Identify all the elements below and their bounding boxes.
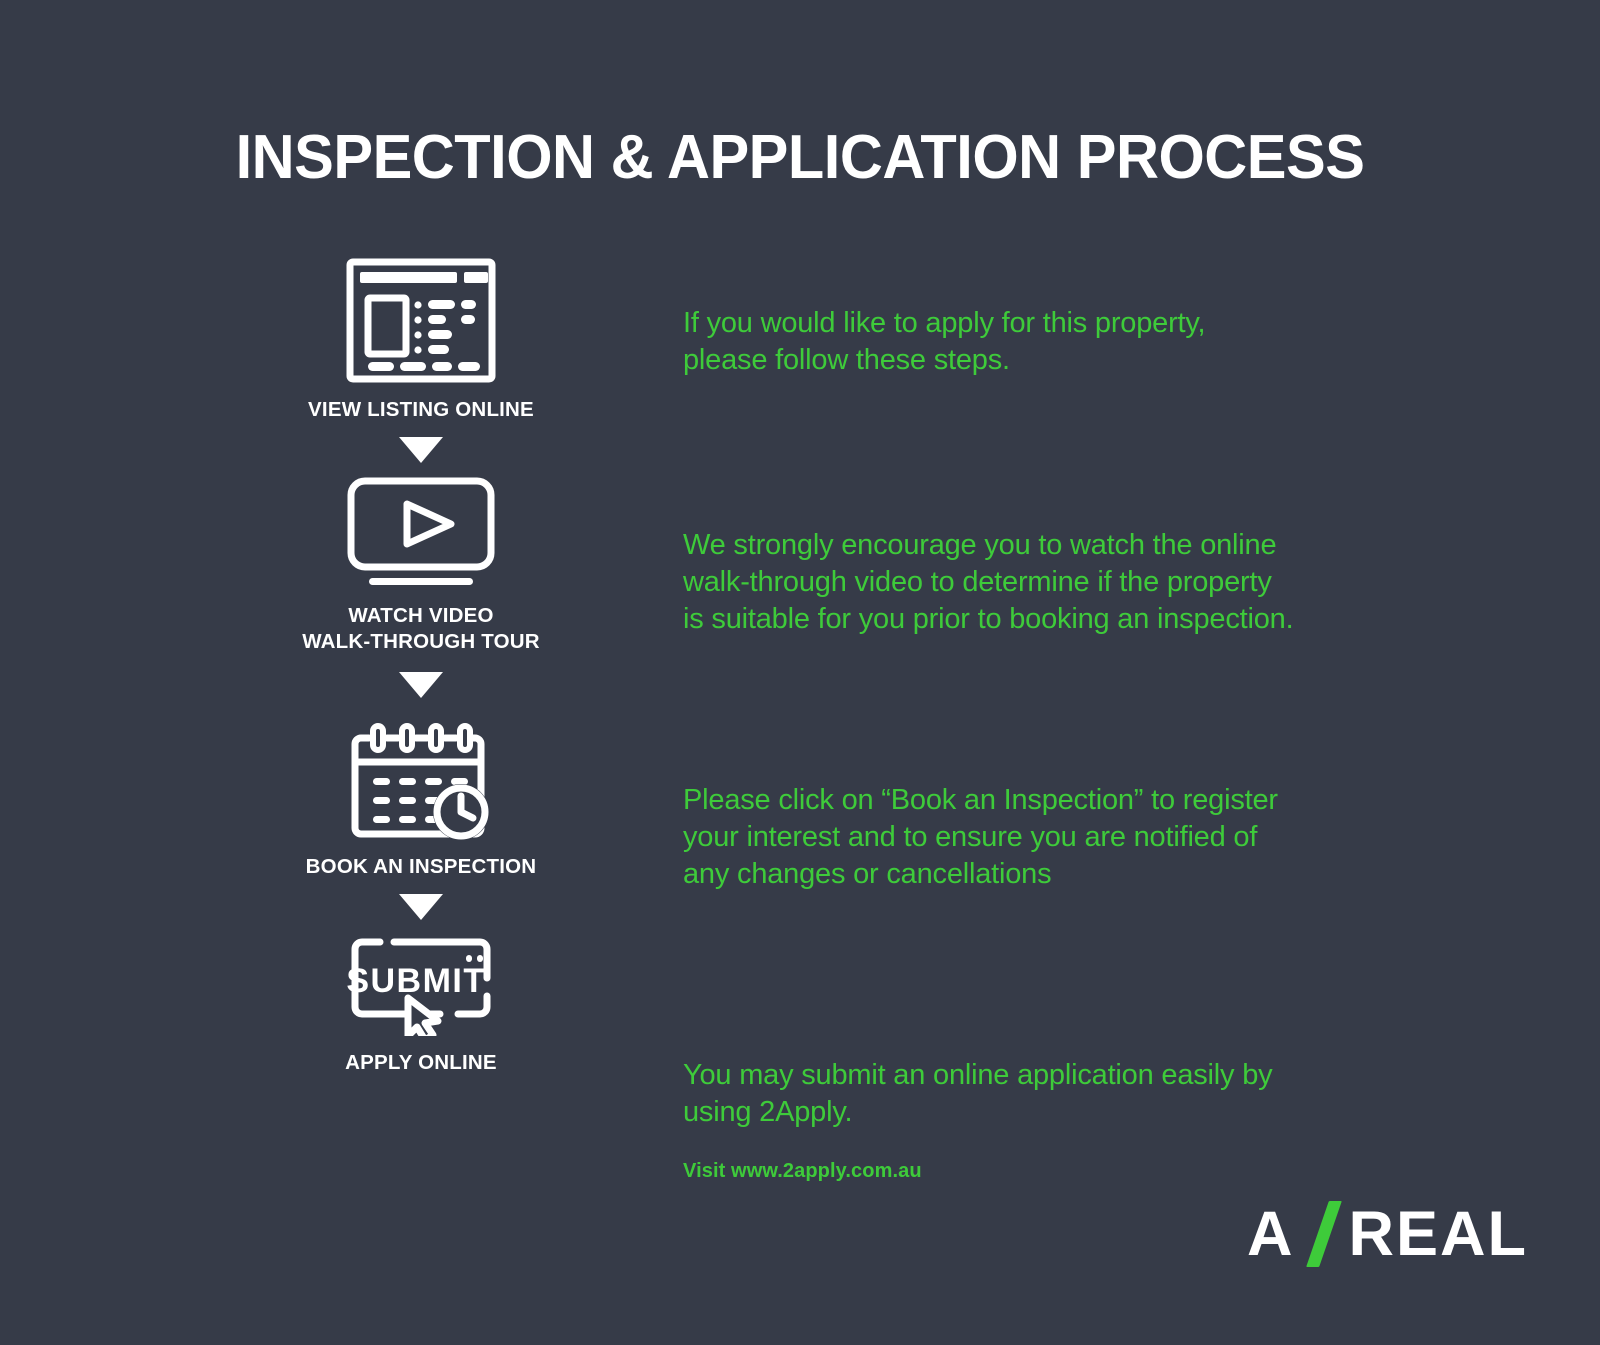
- logo-letter-a: A: [1247, 1203, 1295, 1266]
- step-copy-apply-online: You may submit an online application eas…: [683, 1057, 1423, 1131]
- step-watch-video: WATCH VIDEO WALK-THROUGH TOUR: [205, 477, 637, 655]
- brand-logo[interactable]: A REAL: [1247, 1198, 1528, 1270]
- step-book-inspection: BOOK AN INSPECTION: [205, 712, 637, 880]
- calendar-clock-icon: [205, 712, 637, 840]
- browser-listing-icon: [205, 258, 637, 383]
- steps-column: VIEW LISTING ONLINE WATCH VIDEO WALK-THR…: [205, 258, 637, 1076]
- submit-button-cursor-icon: SUBMIT: [205, 936, 637, 1036]
- step-copy-watch-video: We strongly encourage you to watch the o…: [683, 527, 1423, 637]
- visit-url-link[interactable]: Visit www.2apply.com.au: [683, 1160, 922, 1183]
- flow-arrow-3-icon: [205, 894, 637, 920]
- infographic-poster: INSPECTION & APPLICATION PROCESS: [0, 0, 1600, 1345]
- step-view-listing-online: VIEW LISTING ONLINE: [205, 258, 637, 423]
- step-label: APPLY ONLINE: [205, 1050, 637, 1076]
- flow-arrow-1-icon: [205, 437, 637, 463]
- step-copy-book-inspection: Please click on “Book an Inspection” to …: [683, 782, 1423, 892]
- submit-icon-label: SUBMIT: [346, 962, 485, 1000]
- video-play-monitor-icon: [205, 477, 637, 589]
- step-label: WATCH VIDEO WALK-THROUGH TOUR: [205, 603, 637, 655]
- flow-arrow-2-icon: [205, 672, 637, 698]
- logo-word-real: REAL: [1349, 1203, 1529, 1266]
- step-label: VIEW LISTING ONLINE: [205, 397, 637, 423]
- step-label: BOOK AN INSPECTION: [205, 854, 637, 880]
- step-apply-online: SUBMIT APPLY ONLINE: [205, 936, 637, 1076]
- page-title: INSPECTION & APPLICATION PROCESS: [32, 122, 1568, 193]
- logo-slash-icon: [1301, 1201, 1347, 1267]
- step-copy-view-listing: If you would like to apply for this prop…: [683, 305, 1423, 379]
